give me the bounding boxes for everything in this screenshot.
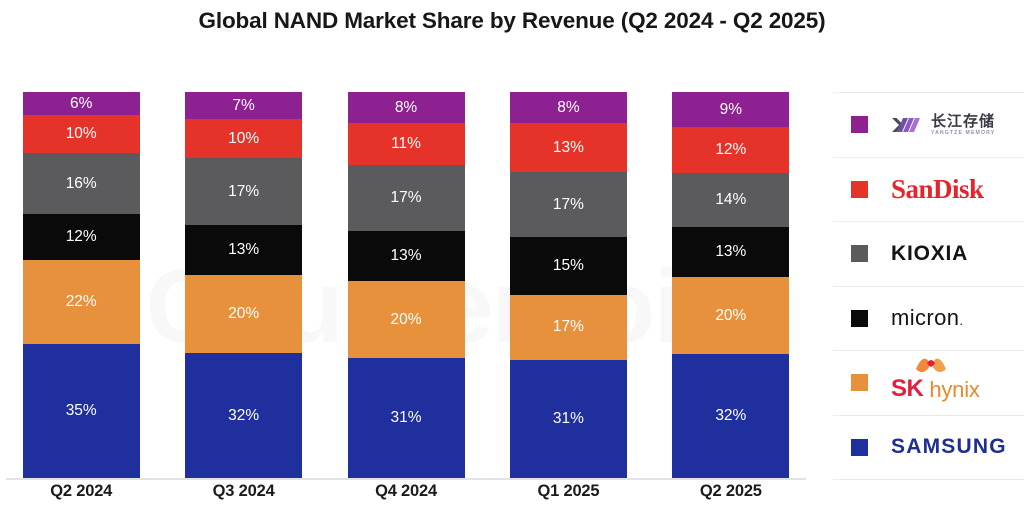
bar-segment-micron[interactable]: 13% (672, 227, 789, 277)
sk-hynix-butterfly-icon (913, 353, 949, 377)
bar-segment-sandisk[interactable]: 10% (185, 119, 302, 158)
segment-value-label: 17% (391, 190, 422, 206)
segment-value-label: 20% (228, 306, 259, 322)
segment-value-label: 14% (715, 192, 746, 208)
legend-swatch-ymtc (851, 116, 868, 133)
chart-title: Global NAND Market Share by Revenue (Q2 … (0, 8, 1024, 34)
bar-segment-ymtc[interactable]: 6% (23, 92, 140, 115)
bar-segment-micron[interactable]: 13% (348, 231, 465, 281)
segment-value-label: 7% (232, 98, 254, 114)
bar-segment-ymtc[interactable]: 9% (672, 92, 789, 127)
legend-item-ymtc[interactable]: 长江存储YANGTZE MEMORY (833, 92, 1024, 157)
bar-segment-samsung[interactable]: 32% (185, 353, 302, 478)
stacked-bar[interactable]: 7%10%17%13%20%32% (185, 92, 302, 478)
legend-item-skhynix[interactable]: SKhynix (833, 350, 1024, 415)
legend-swatch-skhynix (851, 374, 868, 391)
bar-segment-kioxia[interactable]: 17% (185, 158, 302, 224)
x-axis-label: Q3 2024 (162, 482, 324, 501)
segment-value-label: 13% (228, 242, 259, 258)
stacked-bar[interactable]: 8%11%17%13%20%31% (348, 92, 465, 478)
stacked-bar[interactable]: 6%10%16%12%22%35% (23, 92, 140, 478)
x-axis-labels: Q2 2024Q3 2024Q4 2024Q1 2025Q2 2025 (0, 482, 812, 501)
bar-segment-micron[interactable]: 13% (185, 225, 302, 276)
bar-segment-sandisk[interactable]: 13% (510, 123, 627, 173)
segment-value-label: 35% (66, 403, 97, 419)
segment-value-label: 13% (391, 248, 422, 264)
legend-logo-samsung: SAMSUNG (891, 416, 1024, 480)
segment-value-label: 13% (715, 244, 746, 260)
bar-segment-micron[interactable]: 15% (510, 237, 627, 294)
segment-value-label: 20% (391, 312, 422, 328)
bar-segment-samsung[interactable]: 35% (23, 344, 140, 478)
sandisk-wordmark: SanDisk (891, 174, 984, 205)
segment-value-label: 15% (553, 258, 584, 274)
ymtc-english-name: YANGTZE MEMORY (931, 131, 995, 136)
segment-value-label: 31% (391, 410, 422, 426)
x-axis-label: Q4 2024 (325, 482, 487, 501)
bar-segment-sk-hynix[interactable]: 22% (23, 260, 140, 344)
x-axis-label: Q2 2024 (0, 482, 162, 501)
segment-value-label: 31% (553, 411, 584, 427)
ymtc-chevron-icon (891, 115, 925, 135)
bar-segment-samsung[interactable]: 32% (672, 354, 789, 478)
segment-value-label: 17% (553, 197, 584, 213)
segment-value-label: 20% (715, 308, 746, 324)
segment-value-label: 11% (391, 136, 421, 152)
micron-wordmark: micron. (891, 305, 963, 331)
ymtc-chinese-name: 长江存储 (931, 114, 995, 129)
segment-value-label: 17% (553, 319, 584, 335)
segment-value-label: 8% (395, 100, 417, 116)
bar-segment-sandisk[interactable]: 11% (348, 123, 465, 165)
bar-segment-sandisk[interactable]: 10% (23, 115, 140, 153)
kioxia-wordmark: KIOXIA (891, 242, 968, 266)
chart-root: Counterpoint Global NAND Market Share by… (0, 0, 1024, 514)
segment-value-label: 8% (557, 100, 579, 116)
bar-segment-ymtc[interactable]: 8% (510, 92, 627, 123)
bar-segment-sk-hynix[interactable]: 20% (672, 277, 789, 354)
legend-logo-kioxia: KIOXIA (891, 222, 1024, 286)
legend-item-sandisk[interactable]: SanDisk (833, 157, 1024, 222)
segment-value-label: 22% (66, 294, 97, 310)
x-axis-label: Q2 2025 (650, 482, 812, 501)
segment-value-label: 13% (553, 140, 584, 156)
bar-column: 6%10%16%12%22%35% (0, 92, 162, 478)
bar-column: 8%11%17%13%20%31% (325, 92, 487, 478)
micron-dot: . (959, 313, 963, 328)
bar-segment-samsung[interactable]: 31% (510, 360, 627, 478)
x-axis-label: Q1 2025 (487, 482, 649, 501)
legend-swatch-sandisk (851, 181, 868, 198)
segment-value-label: 32% (715, 408, 746, 424)
segment-value-label: 10% (228, 131, 259, 147)
samsung-wordmark: SAMSUNG (891, 435, 1007, 459)
segment-value-label: 17% (228, 184, 259, 200)
legend-logo-skhynix: SKhynix (891, 351, 1024, 415)
bar-segment-sk-hynix[interactable]: 17% (510, 295, 627, 360)
bar-segment-sk-hynix[interactable]: 20% (185, 275, 302, 353)
segment-value-label: 32% (228, 408, 259, 424)
segment-value-label: 12% (715, 142, 746, 158)
bar-segment-micron[interactable]: 12% (23, 214, 140, 260)
bar-column: 8%13%17%15%17%31% (487, 92, 649, 478)
sk-wordmark: SK (891, 375, 923, 403)
segment-value-label: 6% (70, 96, 92, 112)
legend-swatch-samsung (851, 439, 868, 456)
stacked-bar[interactable]: 9%12%14%13%20%32% (672, 92, 789, 478)
legend-logo-ymtc: 长江存储YANGTZE MEMORY (891, 93, 1024, 157)
legend-swatch-kioxia (851, 245, 868, 262)
legend-logo-micron: micron. (891, 287, 1024, 351)
bar-column: 7%10%17%13%20%32% (162, 92, 324, 478)
legend-item-kioxia[interactable]: KIOXIA (833, 221, 1024, 286)
bar-segment-kioxia[interactable]: 16% (23, 153, 140, 214)
bar-segment-ymtc[interactable]: 8% (348, 92, 465, 123)
bar-segment-ymtc[interactable]: 7% (185, 92, 302, 119)
stacked-bar[interactable]: 8%13%17%15%17%31% (510, 92, 627, 478)
bar-segment-samsung[interactable]: 31% (348, 358, 465, 478)
legend-panel: 长江存储YANGTZE MEMORYSanDiskKIOXIAmicron.SK… (833, 92, 1024, 480)
x-axis-line (6, 478, 806, 480)
bar-segment-kioxia[interactable]: 17% (348, 165, 465, 231)
bar-segment-sandisk[interactable]: 12% (672, 127, 789, 173)
legend-logo-sandisk: SanDisk (891, 158, 1024, 222)
hynix-wordmark: hynix (929, 377, 979, 403)
bar-segment-kioxia[interactable]: 14% (672, 173, 789, 227)
segment-value-label: 10% (66, 126, 97, 142)
legend-item-samsung[interactable]: SAMSUNG (833, 415, 1024, 481)
bar-segment-kioxia[interactable]: 17% (510, 172, 627, 237)
segment-value-label: 12% (66, 229, 97, 245)
plot-area: 6%10%16%12%22%35%7%10%17%13%20%32%8%11%1… (0, 92, 812, 480)
segment-value-label: 9% (720, 102, 742, 118)
segment-value-label: 16% (66, 176, 97, 192)
stacked-bars: 6%10%16%12%22%35%7%10%17%13%20%32%8%11%1… (0, 92, 812, 478)
bar-segment-sk-hynix[interactable]: 20% (348, 281, 465, 358)
legend-item-micron[interactable]: micron. (833, 286, 1024, 351)
legend-swatch-micron (851, 310, 868, 327)
bar-column: 9%12%14%13%20%32% (650, 92, 812, 478)
